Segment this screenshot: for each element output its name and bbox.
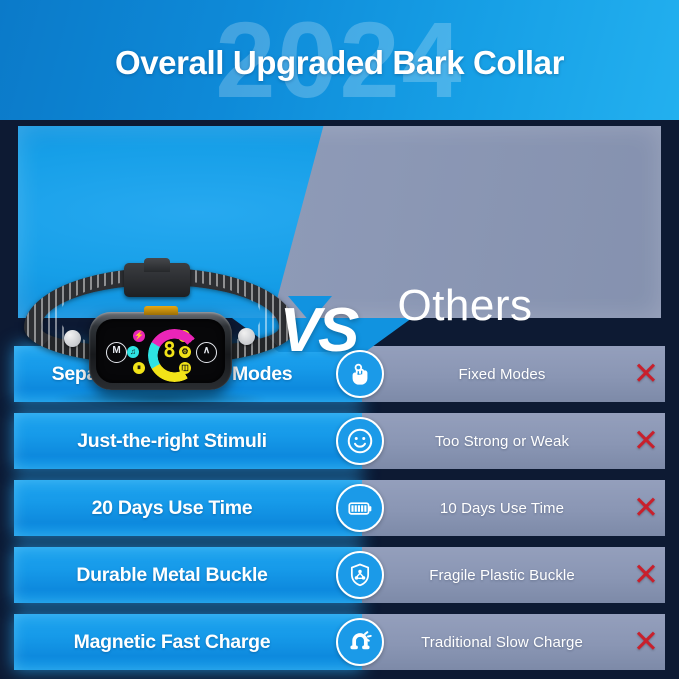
product-shadow <box>52 390 268 408</box>
page-title: Overall Upgraded Bark Collar <box>0 44 679 82</box>
level-digit: 8 <box>148 329 191 372</box>
collar-buckle <box>124 263 190 297</box>
status-cross-icon: ✕ <box>626 480 666 536</box>
touch-hand-icon <box>336 350 384 398</box>
row-theirs-text: Traditional Slow Charge <box>382 614 622 670</box>
row-theirs-text: 10 Days Use Time <box>382 480 622 536</box>
battery-full-icon <box>336 484 384 532</box>
collar-device-body: M ∧ ⚡ ♫ ⏸ S ⚙ ◫ 8 <box>89 312 232 390</box>
status-cross-icon: ✕ <box>626 413 666 469</box>
status-cross-icon: ✕ <box>626 547 666 603</box>
row-ours-text: 20 Days Use Time <box>24 480 342 536</box>
row-theirs-text: Fragile Plastic Buckle <box>382 547 622 603</box>
hero-compare-section: M ∧ ⚡ ♫ ⏸ S ⚙ ◫ 8 VS Others <box>0 120 679 330</box>
magnet-charge-icon <box>336 618 384 666</box>
row-ours-text: Durable Metal Buckle <box>24 547 342 603</box>
status-cross-icon: ✕ <box>626 614 666 670</box>
sound-wave-icon: ♫ <box>127 346 139 358</box>
collar-ring-right <box>238 328 255 345</box>
mode-button[interactable]: M <box>106 342 127 363</box>
pause-icon: ⏸ <box>133 362 145 374</box>
comparison-row: Just-the-right Stimuli Too Strong or Wea… <box>14 413 665 469</box>
comparison-row: Durable Metal Buckle Fragile Plastic Buc… <box>14 547 665 603</box>
smiley-face-icon <box>336 417 384 465</box>
charge-contact-icon <box>144 306 178 315</box>
row-theirs-text: Too Strong or Weak <box>382 413 622 469</box>
shield-buckle-icon <box>336 551 384 599</box>
bark-collar-product-image: M ∧ ⚡ ♫ ⏸ S ⚙ ◫ 8 <box>16 262 304 412</box>
header-banner: 2024 Overall Upgraded Bark Collar <box>0 0 679 120</box>
others-label: Others <box>397 281 532 331</box>
row-ours-text: Just-the-right Stimuli <box>24 413 342 469</box>
row-ours-text: Magnetic Fast Charge <box>24 614 342 670</box>
collar-display-screen: M ∧ ⚡ ♫ ⏸ S ⚙ ◫ 8 <box>96 319 225 383</box>
collar-ring-left <box>64 330 81 347</box>
vibration-icon: ⚡ <box>133 330 145 342</box>
comparison-row: Magnetic Fast Charge Traditional Slow Ch… <box>14 614 665 670</box>
row-theirs-text: Fixed Modes <box>382 346 622 402</box>
status-cross-icon: ✕ <box>626 346 666 402</box>
comparison-infographic: 2024 Overall Upgraded Bark Collar M ∧ <box>0 0 679 679</box>
comparison-row: 20 Days Use Time 10 Days Use Time ✕ <box>14 480 665 536</box>
